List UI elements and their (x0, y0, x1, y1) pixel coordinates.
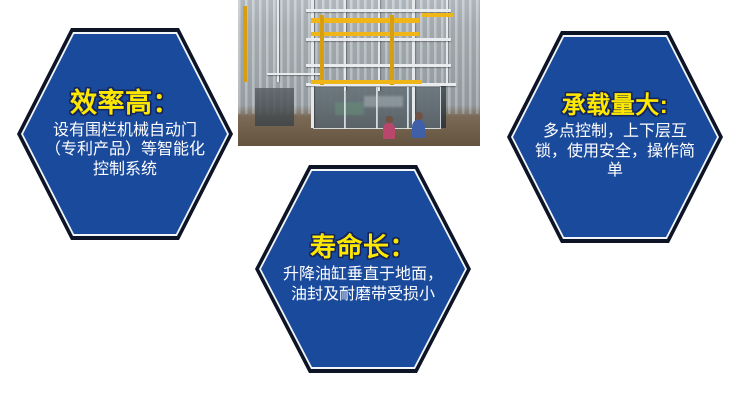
badge-content: 寿命长： 升降油缸垂直于地面，油封及耐磨带受损小 (255, 165, 471, 373)
badge-body: 升降油缸垂直于地面，油封及耐磨带受损小 (281, 265, 445, 304)
lift-frame-beam (306, 38, 451, 41)
glazing-panel (313, 86, 346, 129)
feature-badge-efficiency[interactable]: 效率高： 设有围栏机械自动门（专利产品）等智能化控制系统 (17, 28, 233, 240)
worker-figure (412, 120, 425, 138)
badge-title: 寿命长： (310, 234, 416, 261)
badge-title: 效率高： (70, 89, 180, 117)
worker-figure (383, 123, 395, 139)
lift-frame-beam (306, 9, 451, 12)
badge-title: 承载量大: (562, 93, 669, 118)
lift-frame-post (378, 0, 380, 91)
promo-banner: 效率高： 设有围栏机械自动门（专利产品）等智能化控制系统 承载量大: 多点控制，… (0, 0, 750, 407)
guide-rail-post (390, 15, 394, 85)
glazing-panel (344, 86, 377, 129)
glazing-panel (376, 86, 409, 129)
feature-badge-lifespan[interactable]: 寿命长： 升降油缸垂直于地面，油封及耐磨带受损小 (255, 165, 471, 373)
badge-body: 设有围栏机械自动门（专利产品）等智能化控制系统 (43, 121, 207, 180)
safety-rail (311, 32, 420, 36)
guide-rail-post (320, 15, 324, 85)
lift-frame-beam (267, 73, 320, 75)
badge-content: 承载量大: 多点控制，上下层互锁，使用安全，操作简单 (507, 31, 723, 243)
badge-content: 效率高： 设有围栏机械自动门（专利产品）等智能化控制系统 (17, 28, 233, 240)
lift-frame-beam (306, 64, 451, 67)
side-doorway (255, 88, 294, 126)
safety-rail (311, 18, 420, 23)
product-photo (238, 0, 480, 146)
left-guide-rail (243, 6, 247, 82)
lift-frame-post (277, 0, 279, 82)
feature-badge-capacity[interactable]: 承载量大: 多点控制，上下层互锁，使用安全，操作简单 (507, 31, 723, 243)
badge-body: 多点控制，上下层互锁，使用安全，操作简单 (533, 122, 697, 181)
platform-edge (311, 80, 422, 84)
upper-rail (422, 13, 453, 17)
lift-frame-post (344, 0, 346, 91)
